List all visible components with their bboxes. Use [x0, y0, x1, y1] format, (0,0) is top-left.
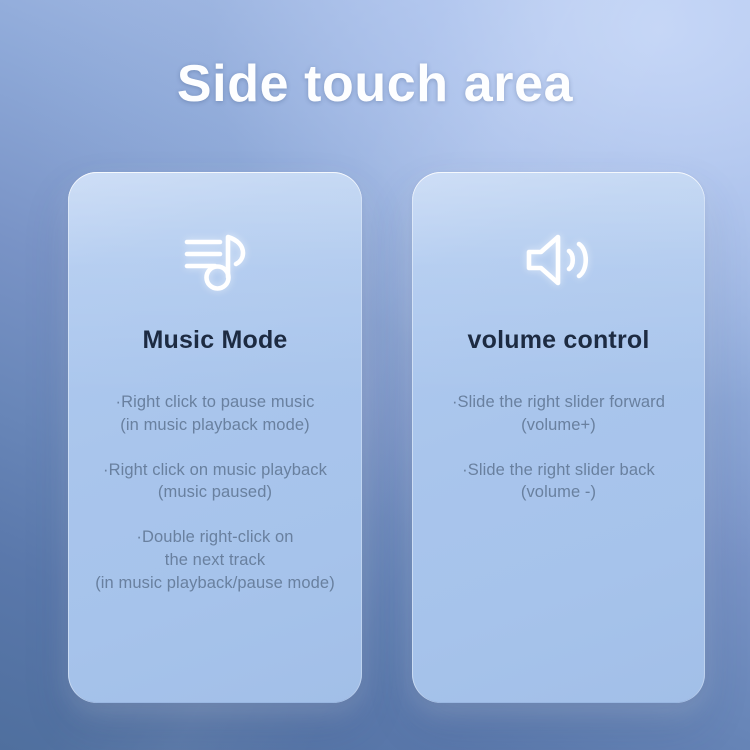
- bullet-line: (in music playback/pause mode): [68, 572, 362, 595]
- card-heading: volume control: [468, 326, 650, 355]
- bullet-line: ·Double right-click on: [68, 526, 362, 549]
- bullet-line: ·Right click on music playback: [68, 459, 362, 482]
- card-bullet-list: ·Slide the right slider forward (volume+…: [412, 391, 705, 504]
- side-touch-area-infographic: Side touch area Music Mo: [0, 0, 750, 750]
- bullet-line: (volume+): [412, 414, 705, 437]
- bullet-line: (volume -): [412, 481, 705, 504]
- bullet-line: the next track: [68, 549, 362, 572]
- bullet-line: (music paused): [68, 481, 362, 504]
- bullet-group: ·Right click to pause music (in music pl…: [68, 391, 362, 437]
- card-heading: Music Mode: [142, 326, 287, 355]
- card-volume-control: volume control ·Slide the right slider f…: [412, 172, 705, 703]
- bullet-group: ·Double right-click on the next track (i…: [68, 526, 362, 594]
- speaker-volume-icon: [525, 222, 593, 298]
- bullet-group: ·Slide the right slider back (volume -): [412, 459, 705, 505]
- card-music-mode: Music Mode ·Right click to pause music (…: [68, 172, 362, 703]
- bullet-line: ·Slide the right slider forward: [412, 391, 705, 414]
- bullet-group: ·Right click on music playback (music pa…: [68, 459, 362, 505]
- music-playlist-note-icon: [182, 222, 248, 298]
- bullet-group: ·Slide the right slider forward (volume+…: [412, 391, 705, 437]
- page-title: Side touch area: [0, 54, 750, 114]
- bullet-line: ·Slide the right slider back: [412, 459, 705, 482]
- card-bullet-list: ·Right click to pause music (in music pl…: [68, 391, 362, 594]
- bullet-line: (in music playback mode): [68, 414, 362, 437]
- bullet-line: ·Right click to pause music: [68, 391, 362, 414]
